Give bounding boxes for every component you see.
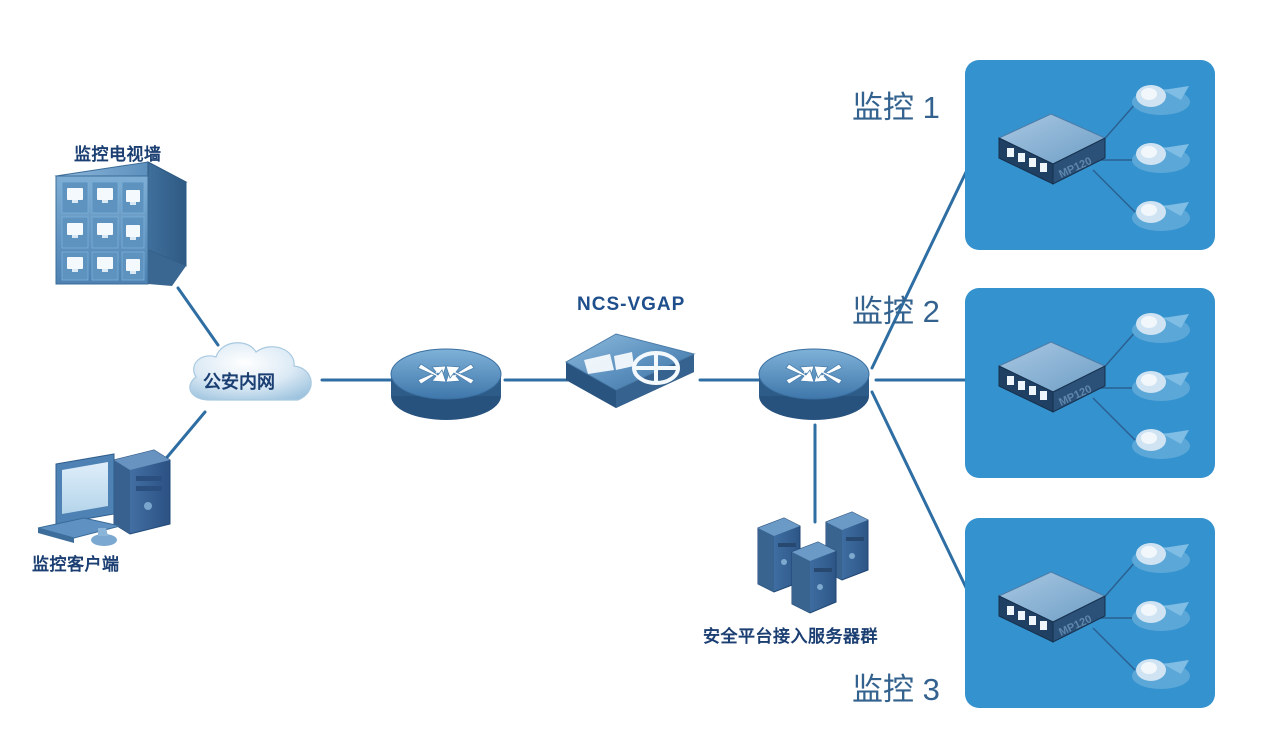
zone-2-camera-2[interactable] bbox=[1132, 371, 1190, 401]
zone-1-switch-camera-link-3 bbox=[1093, 170, 1141, 218]
tv-wall-icon[interactable] bbox=[52, 158, 202, 298]
zone-2-switch-icon[interactable]: MP120 bbox=[999, 342, 1105, 412]
zone-3-switch-camera-link-3 bbox=[1093, 628, 1141, 676]
gateway-label: NCS-VGAP bbox=[577, 294, 685, 316]
zone-1-camera-2[interactable] bbox=[1132, 143, 1190, 173]
router-left-icon[interactable] bbox=[388, 330, 508, 428]
zone-1-switch-icon[interactable]: MP120 bbox=[999, 114, 1105, 184]
server-cluster-icon[interactable] bbox=[740, 510, 900, 620]
zone-1-camera-1[interactable] bbox=[1132, 85, 1190, 115]
zone-3-camera-2[interactable] bbox=[1132, 601, 1190, 631]
zone-2-camera-3[interactable] bbox=[1132, 429, 1190, 459]
network-topology-diagram: MP120 bbox=[0, 0, 1276, 753]
zone-label-2: 监控 2 bbox=[852, 286, 940, 331]
gateway-icon[interactable] bbox=[558, 322, 708, 434]
tv-wall-label: 监控电视墙 bbox=[74, 140, 162, 165]
zone-3-camera-3[interactable] bbox=[1132, 659, 1190, 689]
zone-label-1: 监控 1 bbox=[852, 82, 940, 127]
zone-2-camera-1[interactable] bbox=[1132, 313, 1190, 343]
zone-3-camera-1[interactable] bbox=[1132, 543, 1190, 573]
link-routerright-zone1 bbox=[872, 168, 968, 368]
zone-3-contents: MP120 bbox=[965, 518, 1215, 708]
client-label: 监控客户端 bbox=[32, 550, 120, 575]
router-right-icon[interactable] bbox=[756, 330, 876, 428]
desktop-computer-icon[interactable] bbox=[28, 440, 178, 550]
zone-1-camera-3[interactable] bbox=[1132, 201, 1190, 231]
server-3 bbox=[792, 542, 836, 613]
zone-3-switch-icon[interactable]: MP120 bbox=[999, 572, 1105, 642]
cloud-label: 公安内网 bbox=[203, 368, 275, 394]
zone-label-3: 监控 3 bbox=[852, 664, 940, 709]
zone-2-contents: MP120 bbox=[965, 288, 1215, 478]
zone-1-contents: MP120 bbox=[965, 60, 1215, 250]
zone-2-switch-camera-link-3 bbox=[1093, 398, 1141, 446]
servers-label: 安全平台接入服务器群 bbox=[703, 622, 878, 647]
